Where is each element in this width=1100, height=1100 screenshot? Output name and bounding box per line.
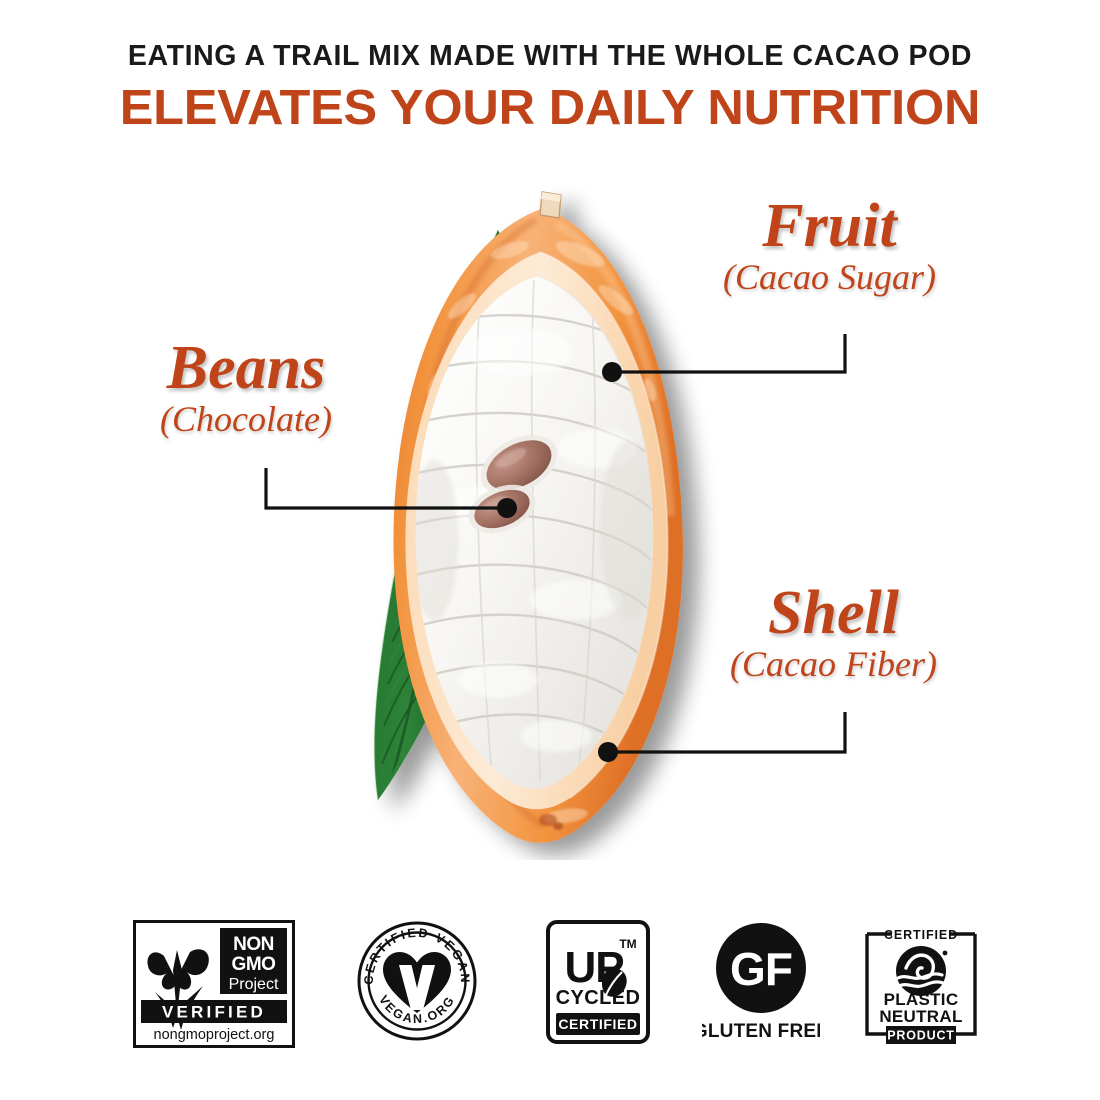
leader-line-shell — [598, 712, 845, 762]
upcycled-line-certified: CERTIFIED — [558, 1016, 637, 1032]
nongmo-line-gmo: GMO — [232, 954, 276, 975]
nongmo-line-verified: VERIFIED — [162, 1003, 266, 1022]
marker-dot-fruit — [602, 362, 622, 382]
marker-dot-beans — [497, 498, 517, 518]
plastic-line-product: PRODUCT — [887, 1029, 954, 1043]
certified-vegan-badge: CERTIFIED VEGAN VEGAN.ORG — [356, 920, 478, 1042]
upcycled-line-cycled: CYCLED — [556, 987, 641, 1009]
leader-line-beans — [266, 468, 517, 518]
nongmo-line-non: NON — [233, 934, 274, 955]
gluten-free-badge: GF GLUTEN FREE — [702, 920, 820, 1046]
gf-caption: GLUTEN FREE — [702, 1021, 820, 1042]
gf-mark: GF — [730, 943, 792, 995]
certification-badge-row: NON GMO Project VERIFIED nongmoproject.o… — [0, 920, 1100, 1070]
nongmo-line-project: Project — [229, 976, 279, 993]
plastic-line-neutral: NEUTRAL — [879, 1007, 962, 1026]
plastic-line-certified: CERTIFIED — [884, 928, 958, 942]
upcycled-certified-badge: UP TM CYCLED CERTIFIED — [546, 920, 650, 1044]
marker-dot-shell — [598, 742, 618, 762]
non-gmo-project-verified-badge: NON GMO Project VERIFIED nongmoproject.o… — [133, 920, 295, 1048]
plastic-neutral-mark-icon — [896, 946, 947, 996]
leader-line-fruit — [602, 334, 845, 382]
nongmo-url: nongmoproject.org — [154, 1027, 275, 1043]
upcycled-trademark: TM — [619, 937, 636, 951]
certified-plastic-neutral-product-badge: CERTIFIED PLASTIC NEUTRAL PRODUCT — [862, 920, 980, 1048]
